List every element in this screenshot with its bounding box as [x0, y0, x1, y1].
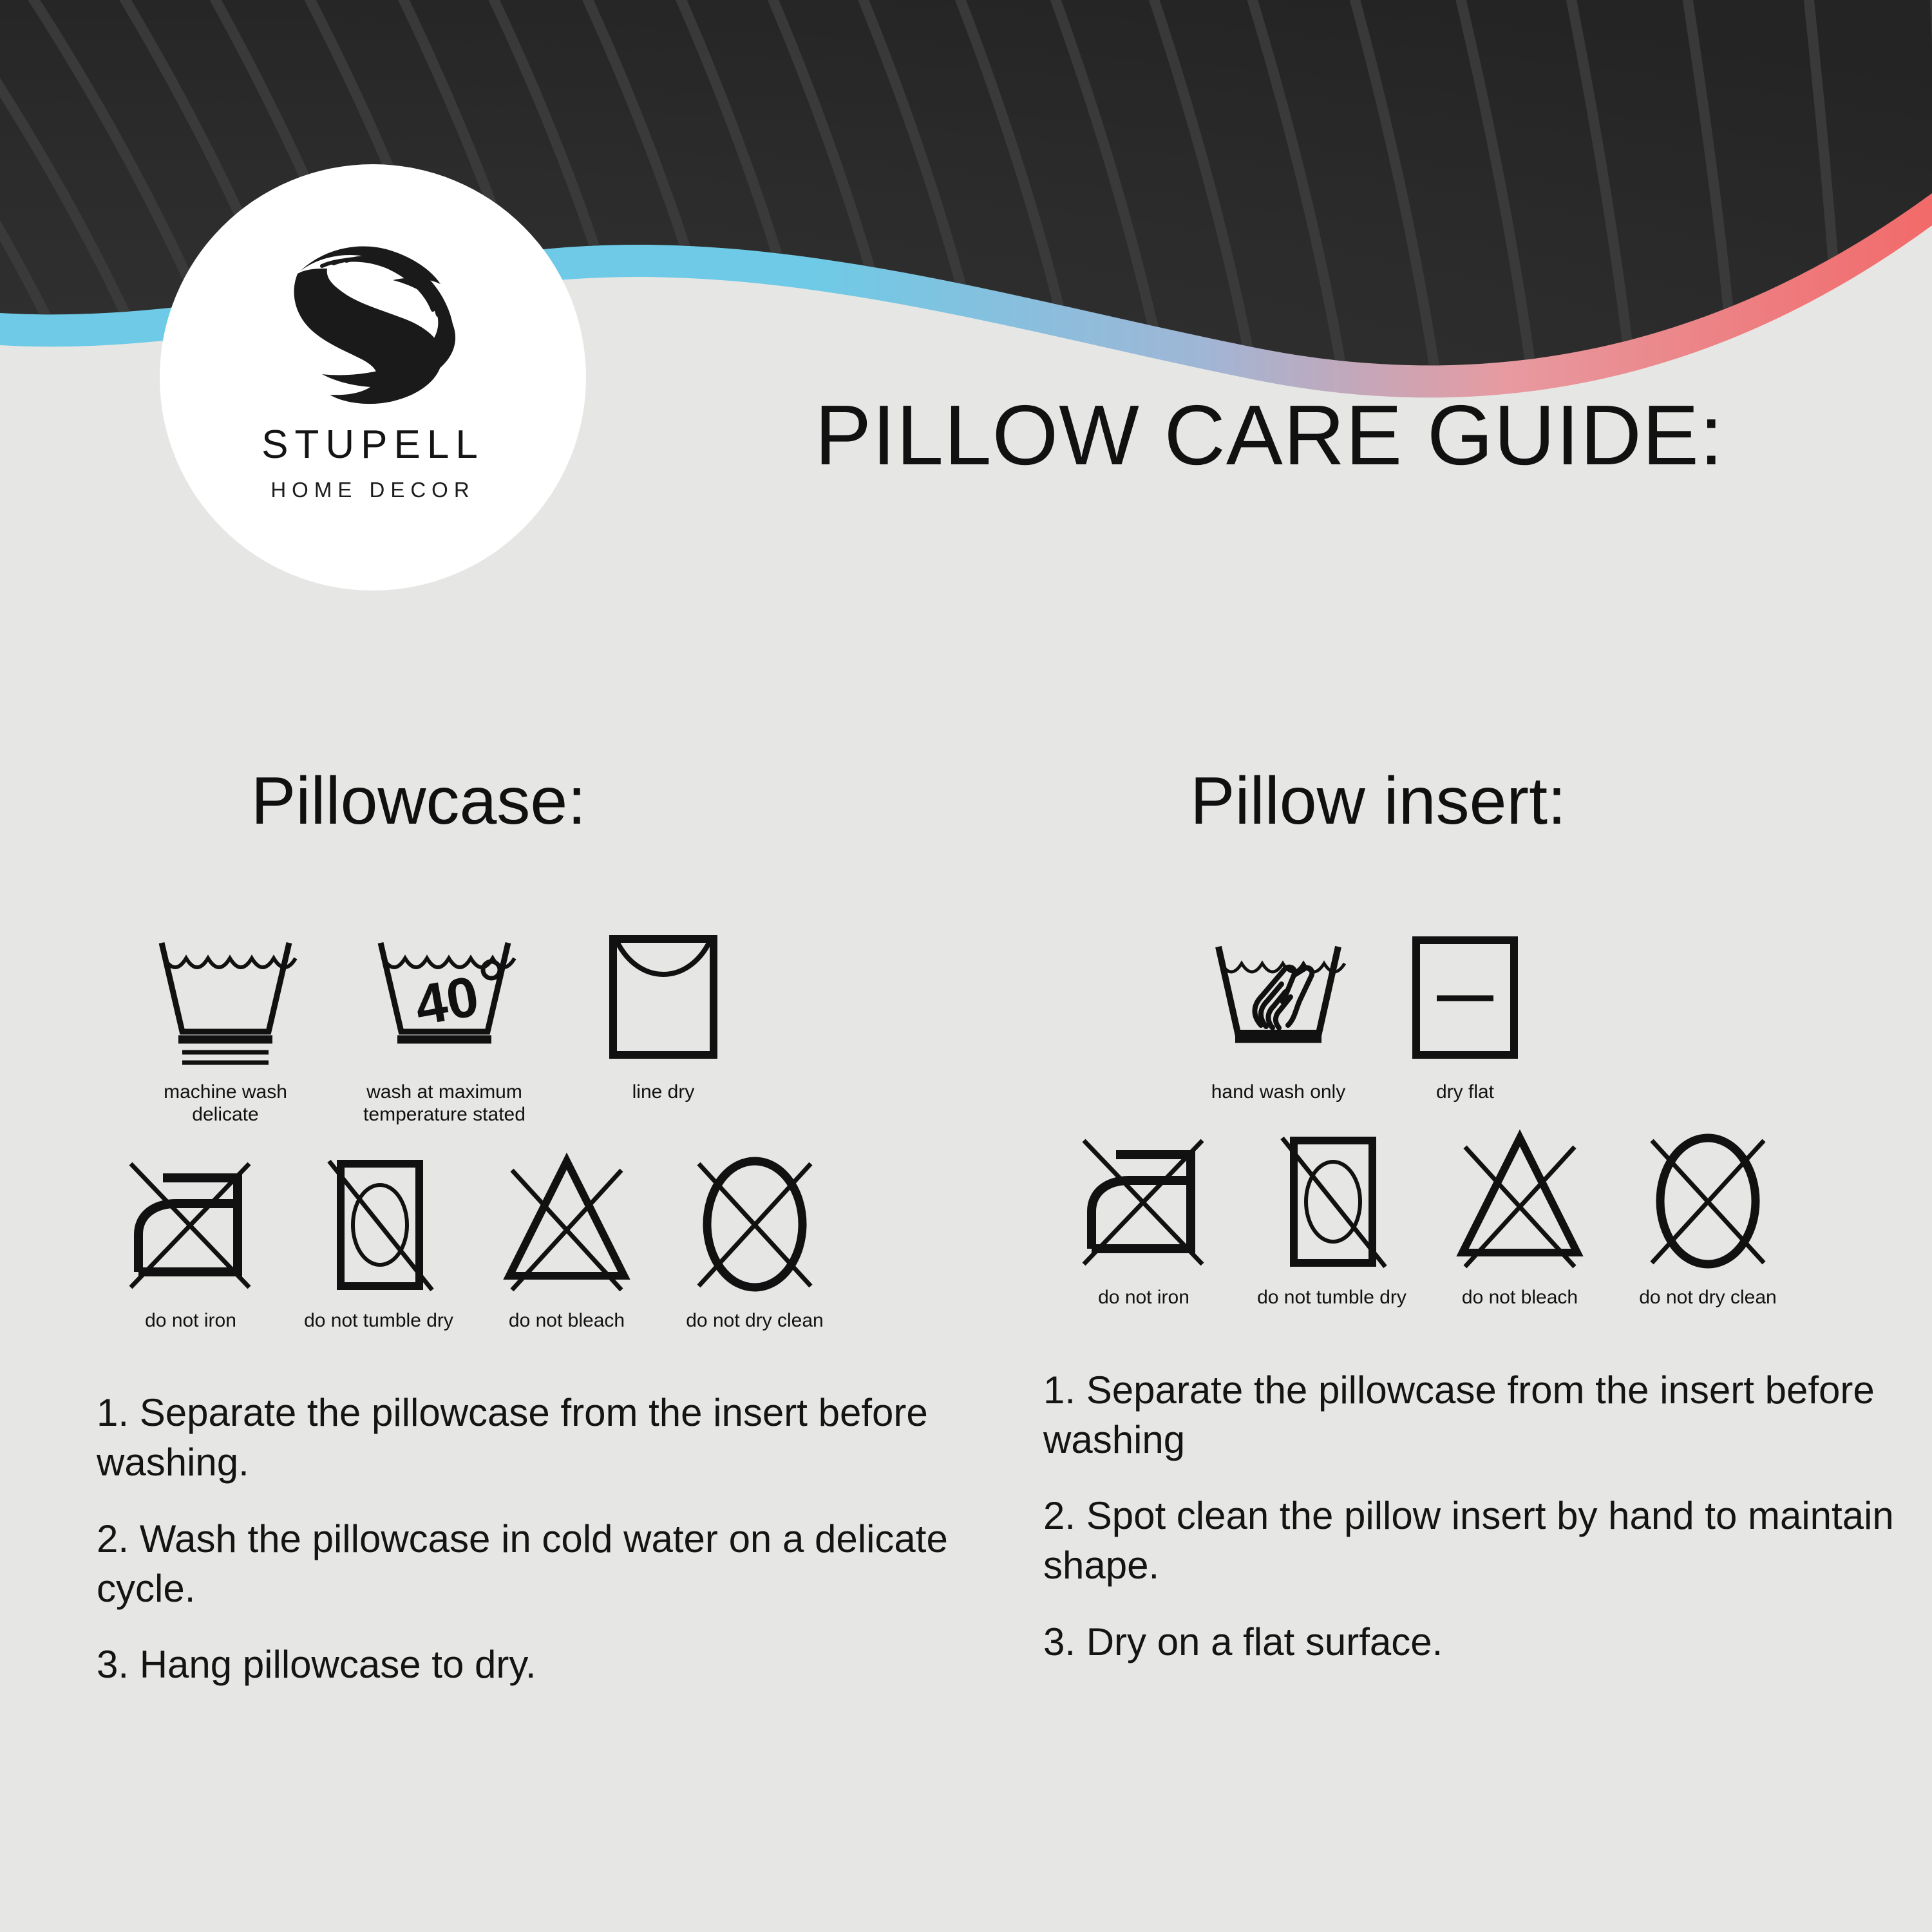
section-heading-pillow-insert: Pillow insert:: [1043, 763, 1913, 840]
care-icon-label: machine wash delicate: [164, 1081, 287, 1126]
care-icon-machine-wash-delicate: machine wash delicate: [116, 930, 335, 1126]
care-icon-hand-wash-only: hand wash only: [1185, 930, 1372, 1103]
care-icon-label: do not tumble dry: [1257, 1286, 1406, 1309]
care-icon-wash-40: 40 wash at maximum temperature stated: [335, 930, 554, 1126]
care-guide-poster: STUPELL HOME DECOR PILLOW CARE GUIDE: Pi…: [0, 0, 1932, 1932]
section-heading-pillowcase: Pillowcase:: [97, 763, 966, 840]
do-not-iron-icon: [1070, 1129, 1218, 1277]
wash-40-degrees-icon: 40: [364, 930, 525, 1072]
steps-list-pillowcase: 1. Separate the pillowcase from the inse…: [97, 1388, 966, 1690]
steps-list-pillow-insert: 1. Separate the pillowcase from the inse…: [1043, 1366, 1913, 1667]
care-icon-label: wash at maximum temperature stated: [363, 1081, 526, 1126]
machine-wash-delicate-icon: [145, 930, 306, 1072]
care-icon-label: dry flat: [1436, 1081, 1494, 1103]
step-item: 1. Separate the pillowcase from the inse…: [97, 1388, 966, 1488]
care-icon-label: do not dry clean: [686, 1309, 823, 1332]
page-title: PILLOW CARE GUIDE:: [815, 386, 1724, 484]
care-icon-label: line dry: [632, 1081, 695, 1103]
brand-tagline: HOME DECOR: [270, 478, 475, 502]
do-not-tumble-dry-icon: [1258, 1129, 1406, 1277]
care-icon-do-not-tumble-dry: do not tumble dry: [1238, 1129, 1426, 1309]
care-icon-do-not-tumble-dry: do not tumble dry: [285, 1152, 473, 1332]
column-pillowcase: Pillowcase: machine wash delicate 40: [97, 763, 966, 1690]
hand-wash-only-icon: [1204, 930, 1352, 1072]
step-item: 2. Wash the pillowcase in cold water on …: [97, 1515, 966, 1614]
care-icon-do-not-bleach: do not bleach: [1426, 1129, 1614, 1309]
do-not-tumble-dry-icon: [305, 1152, 453, 1300]
stupell-swan-s-icon: [267, 202, 479, 414]
care-icon-do-not-iron: do not iron: [97, 1152, 285, 1332]
care-icon-dry-flat: dry flat: [1372, 930, 1558, 1103]
care-icon-row-prohibit-left: do not iron do not tumble dry do not ble…: [97, 1152, 966, 1332]
care-icon-label: do not dry clean: [1639, 1286, 1776, 1309]
do-not-bleach-icon: [493, 1152, 641, 1300]
step-item: 1. Separate the pillowcase from the inse…: [1043, 1366, 1913, 1465]
care-icon-do-not-dry-clean: do not dry clean: [1614, 1129, 1802, 1309]
svg-text:40: 40: [410, 963, 484, 1037]
brand-logo-badge: STUPELL HOME DECOR: [160, 164, 586, 591]
care-icon-row-wash-right: hand wash only dry flat: [1043, 930, 1913, 1103]
care-icon-label: do not iron: [1098, 1286, 1189, 1309]
do-not-bleach-icon: [1446, 1129, 1594, 1277]
care-icon-label: do not iron: [145, 1309, 236, 1332]
step-item: 2. Spot clean the pillow insert by hand …: [1043, 1492, 1913, 1591]
care-icon-label: hand wash only: [1211, 1081, 1345, 1103]
care-icon-line-dry: line dry: [554, 930, 773, 1103]
step-item: 3. Hang pillowcase to dry.: [97, 1640, 966, 1690]
care-icon-label: do not tumble dry: [304, 1309, 453, 1332]
step-item: 3. Dry on a flat surface.: [1043, 1618, 1913, 1667]
line-dry-icon: [599, 930, 728, 1072]
do-not-iron-icon: [117, 1152, 265, 1300]
dry-flat-icon: [1401, 930, 1529, 1072]
care-icon-label: do not bleach: [1462, 1286, 1578, 1309]
care-icon-do-not-iron: do not iron: [1050, 1129, 1238, 1309]
care-icon-do-not-bleach: do not bleach: [473, 1152, 661, 1332]
care-icon-do-not-dry-clean: do not dry clean: [661, 1152, 849, 1332]
care-icon-row-wash-left: machine wash delicate 40 wash at maximum…: [97, 930, 966, 1126]
care-icon-row-prohibit-right: do not iron do not tumble dry do not ble…: [1043, 1129, 1913, 1309]
do-not-dry-clean-icon: [1634, 1129, 1782, 1277]
do-not-dry-clean-icon: [681, 1152, 829, 1300]
column-pillow-insert: Pillow insert: hand wash only: [1043, 763, 1913, 1667]
care-icon-label: do not bleach: [509, 1309, 625, 1332]
brand-name: STUPELL: [261, 422, 484, 468]
